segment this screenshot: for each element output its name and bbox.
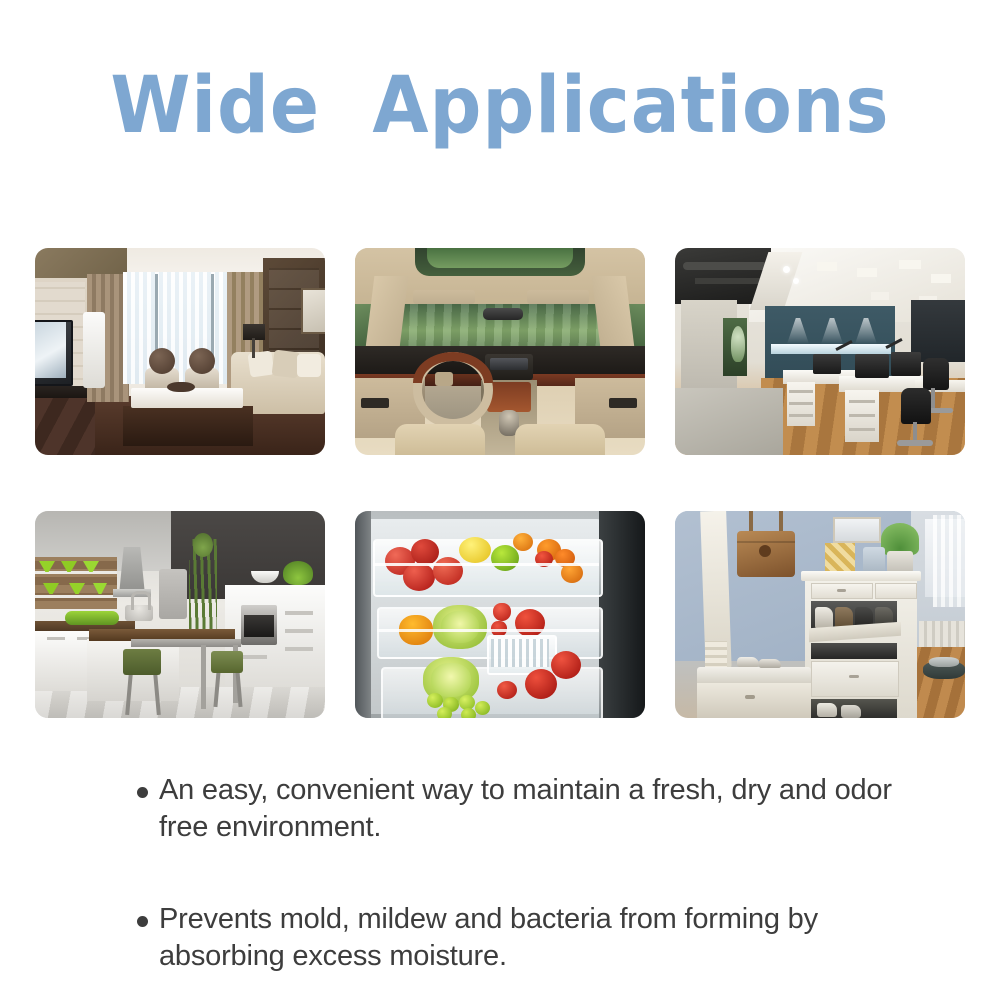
office-chair-icon bbox=[901, 388, 931, 424]
page-title: Wide Applications bbox=[110, 62, 889, 150]
gallery-tile-living-room[interactable] bbox=[35, 248, 325, 455]
gallery-tile-office[interactable] bbox=[675, 248, 965, 455]
feature-list: An easy, convenient way to maintain a fr… bbox=[137, 772, 937, 975]
feature-item: An easy, convenient way to maintain a fr… bbox=[137, 772, 937, 846]
monitor-icon bbox=[813, 354, 841, 374]
gallery-tile-kitchen[interactable] bbox=[35, 511, 325, 718]
monitor-icon bbox=[855, 354, 889, 378]
bullet-dot-icon bbox=[137, 787, 148, 798]
feature-text: Prevents mold, mildew and bacteria from … bbox=[159, 901, 937, 975]
rearview-mirror-icon bbox=[483, 308, 523, 320]
gallery-tile-refrigerator[interactable] bbox=[355, 511, 645, 718]
open-plan-office-photo bbox=[675, 248, 965, 455]
kitchen-photo bbox=[35, 511, 325, 718]
bar-stool-icon bbox=[211, 651, 243, 673]
feature-item: Prevents mold, mildew and bacteria from … bbox=[137, 901, 937, 975]
car-interior-photo bbox=[355, 248, 645, 455]
gallery-tile-car-interior[interactable] bbox=[355, 248, 645, 455]
feature-text: An easy, convenient way to maintain a fr… bbox=[159, 772, 937, 846]
gallery-tile-entryway[interactable] bbox=[675, 511, 965, 718]
bar-stool-icon bbox=[123, 649, 161, 675]
office-chair-icon bbox=[923, 358, 949, 390]
page-title-container: Wide Applications bbox=[0, 62, 1000, 150]
bullet-dot-icon bbox=[137, 916, 148, 927]
living-room-photo bbox=[35, 248, 325, 455]
entryway-shoe-cabinet-photo bbox=[675, 511, 965, 718]
monitor-icon bbox=[891, 352, 921, 376]
refrigerator-interior-photo bbox=[355, 511, 645, 718]
applications-image-grid bbox=[35, 248, 965, 718]
